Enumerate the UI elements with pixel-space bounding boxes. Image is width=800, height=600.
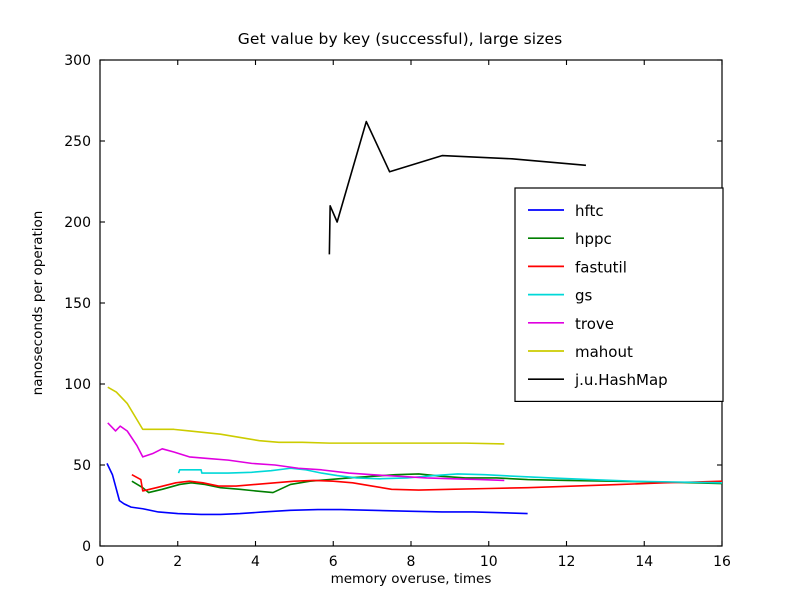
plot-area: 0246810121416 050100150200250300 memory … — [0, 0, 800, 600]
x-axis-title: memory overuse, times — [331, 571, 492, 587]
legend-label-gs: gs — [575, 287, 593, 305]
legend-label-j-u-hashmap: j.u.HashMap — [574, 371, 668, 389]
y-tick-label: 50 — [73, 458, 91, 474]
legend-label-mahout: mahout — [575, 343, 633, 361]
y-tick-label: 300 — [64, 53, 91, 69]
legend-label-trove: trove — [575, 315, 614, 333]
chart-legend: hftchppcfastutilgstrovemahoutj.u.HashMap — [515, 188, 723, 401]
series-line-gs — [179, 468, 722, 483]
series-line-fastutil — [132, 475, 722, 491]
axis-titles: memory overuse, timesnanoseconds per ope… — [30, 211, 491, 587]
series-line-mahout — [108, 387, 505, 444]
x-tick-label: 12 — [558, 554, 576, 570]
series-line-trove — [108, 423, 505, 481]
legend-label-hppc: hppc — [575, 230, 612, 248]
x-tick-label: 0 — [96, 554, 105, 570]
y-tick-label: 200 — [64, 215, 91, 231]
x-tick-label: 4 — [251, 554, 260, 570]
y-tick-label: 100 — [64, 377, 91, 393]
legend-label-hftc: hftc — [575, 202, 604, 220]
x-tick-label: 10 — [480, 554, 498, 570]
x-tick-label: 16 — [713, 554, 731, 570]
figure-canvas: Get value by key (successful), large siz… — [0, 0, 800, 600]
legend-label-fastutil: fastutil — [575, 258, 627, 276]
x-tick-label: 14 — [635, 554, 653, 570]
x-tick-label: 6 — [329, 554, 338, 570]
x-tick-label: 8 — [407, 554, 416, 570]
y-tick-label: 0 — [82, 539, 91, 555]
y-axis-title: nanoseconds per operation — [30, 211, 46, 396]
y-tick-label: 150 — [64, 296, 91, 312]
x-tick-label: 2 — [173, 554, 182, 570]
y-tick-label: 250 — [64, 134, 91, 150]
